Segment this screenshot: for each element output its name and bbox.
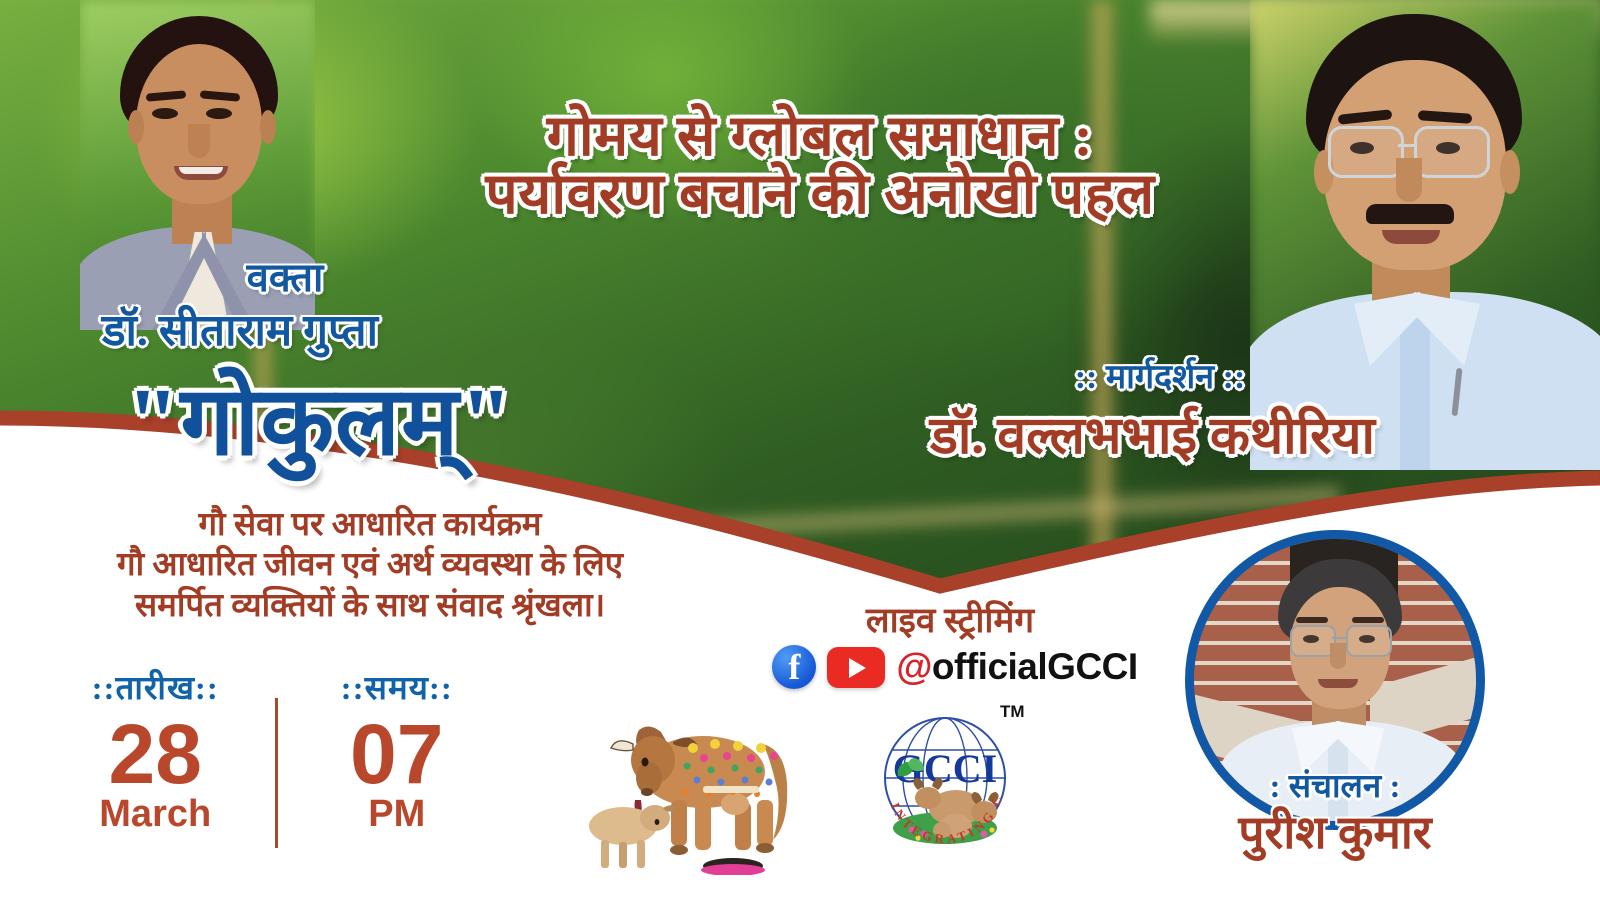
speaker-ear-left <box>128 110 144 144</box>
host-eyebrow-right <box>1352 617 1384 623</box>
speaker-eye-right <box>206 108 232 119</box>
time-meridiem: PM <box>278 793 517 836</box>
social-handle[interactable]: @officialGCCI <box>896 646 1137 688</box>
program-description: गौ सेवा पर आधारित कार्यक्रम गौ आधारित जी… <box>0 505 740 626</box>
decorated-cow-image <box>575 700 805 875</box>
guide-nose <box>1396 158 1422 202</box>
guide-role-label: :: मार्गदर्शन :: <box>900 352 1420 398</box>
headline-line-2: पर्यावरण बचाने की अनोखी पहल <box>380 166 1260 224</box>
host-eyebrow-left <box>1296 617 1328 623</box>
bamboo-pole-right <box>1085 0 1119 620</box>
guide-spectacles-left <box>1328 126 1404 178</box>
facebook-icon[interactable] <box>772 645 816 689</box>
speaker-nose <box>188 124 210 158</box>
speaker-eye-left <box>152 108 178 119</box>
speaker-ear-right <box>260 110 276 144</box>
guide-spectacles-bridge <box>1398 144 1414 147</box>
speaker-role-label: वक्ता <box>120 248 450 303</box>
headline-line-1: गोमय से ग्लोबल समाधान : <box>380 108 1260 166</box>
time-hour: 07 <box>278 715 517 795</box>
date-day: 28 <box>36 715 275 795</box>
page-title: गोमय से ग्लोबल समाधान : पर्यावरण बचाने क… <box>380 108 1260 224</box>
handle-name: officialGCCI <box>932 646 1138 687</box>
youtube-icon[interactable] <box>827 647 885 688</box>
at-symbol: @ <box>896 646 932 687</box>
social-handle-row: @officialGCCI <box>760 645 1150 689</box>
guide-mouth <box>1382 230 1440 244</box>
speaker-name: डॉ. सीताराम गुप्ता <box>0 298 480 358</box>
host-mouth <box>1318 679 1358 688</box>
host-nose <box>1330 643 1346 669</box>
guide-moustache <box>1366 204 1454 224</box>
live-stream-label: लाइव स्ट्रीमिंग <box>760 596 1140 643</box>
date-label: ::तारीख:: <box>36 664 275 709</box>
trademark-symbol: TM <box>1000 702 1025 722</box>
event-poster: गोमय से ग्लोबल समाधान : पर्यावरण बचाने क… <box>0 0 1600 900</box>
date-month: March <box>36 793 275 836</box>
speaker-teeth <box>179 167 223 174</box>
description-line-3: समर्पित व्यक्तियों के साथ संवाद श्रृंखला… <box>0 586 740 626</box>
date-column: ::तारीख:: 28 March <box>36 664 275 836</box>
guide-name: डॉ. वल्लभभाई कथीरिया <box>930 398 1600 469</box>
host-name: पुरीश कुमार <box>1155 800 1515 862</box>
time-column: ::समय:: 07 PM <box>278 664 517 836</box>
host-spectacles-right <box>1346 625 1392 657</box>
description-line-1: गौ सेवा पर आधारित कार्यक्रम <box>0 505 740 545</box>
description-line-2: गौ आधारित जीवन एवं अर्थ व्यवस्था के लिए <box>0 545 740 585</box>
time-label: ::समय:: <box>278 664 517 709</box>
guide-spectacles-right <box>1414 126 1490 178</box>
program-title: "गोकुलम्" <box>10 352 630 483</box>
guide-ear-right <box>1500 150 1520 194</box>
host-spectacles-bridge <box>1332 637 1346 639</box>
date-time-block: ::तारीख:: 28 March ::समय:: 07 PM <box>36 664 516 848</box>
gcci-logo: GCCI INTEGRATING COWISM <box>868 700 1023 875</box>
